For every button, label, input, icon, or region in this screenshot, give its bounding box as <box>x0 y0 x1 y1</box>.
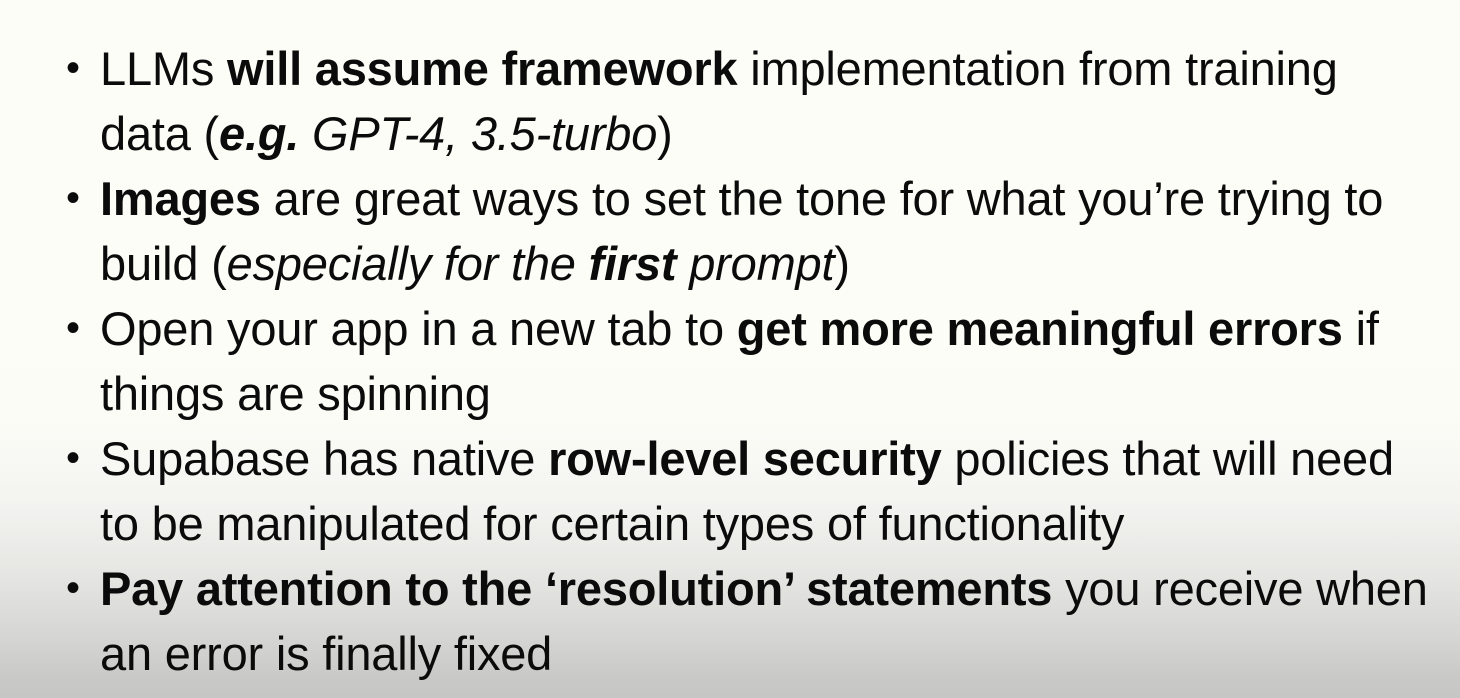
text-run-bold-italic: e.g. <box>219 107 299 160</box>
text-run-bold: will assume framework <box>227 42 737 95</box>
text-run-italic: prompt <box>676 237 834 290</box>
text-run-bold: row-level security <box>548 432 941 485</box>
bullet-text: Pay attention to the ‘resolution’ statem… <box>100 556 1440 686</box>
bullet-text: LLMs will assume framework implementatio… <box>100 36 1440 166</box>
bullet-text: Supabase has native row-level security p… <box>100 426 1440 556</box>
text-run-bold: Pay attention to the ‘resolution’ statem… <box>100 562 1052 615</box>
bullet-llms-assume-framework: •LLMs will assume framework implementati… <box>0 36 1460 166</box>
bullet-resolution-statements: •Pay attention to the ‘resolution’ state… <box>0 556 1460 686</box>
bullet-supabase-row-level-security: •Supabase has native row-level security … <box>0 426 1460 556</box>
bullet-point-icon: • <box>66 296 88 361</box>
text-run-normal: Open your app in a new tab to <box>100 302 737 355</box>
slide-canvas: •LLMs will assume framework implementati… <box>0 0 1460 698</box>
bullet-point-icon: • <box>66 556 88 621</box>
text-run-normal: LLMs <box>100 42 227 95</box>
bullet-point-icon: • <box>66 166 88 231</box>
bullet-text: Images are great ways to set the tone fo… <box>100 166 1440 296</box>
bullet-images-set-tone: •Images are great ways to set the tone f… <box>0 166 1460 296</box>
text-run-italic: GPT-4, 3.5-turbo <box>299 107 657 160</box>
bullet-text: Open your app in a new tab to get more m… <box>100 296 1440 426</box>
text-run-bold: Images <box>100 172 261 225</box>
text-run-normal: ) <box>657 107 672 160</box>
text-run-bold: get more meaningful errors <box>737 302 1343 355</box>
text-run-normal: Supabase has native <box>100 432 548 485</box>
bullet-list: •LLMs will assume framework implementati… <box>0 36 1460 686</box>
bullet-open-app-new-tab: •Open your app in a new tab to get more … <box>0 296 1460 426</box>
bullet-point-icon: • <box>66 36 88 101</box>
text-run-normal: ) <box>834 237 849 290</box>
text-run-bold-italic: first <box>589 237 677 290</box>
bullet-point-icon: • <box>66 426 88 491</box>
text-run-italic: especially for the <box>227 237 589 290</box>
